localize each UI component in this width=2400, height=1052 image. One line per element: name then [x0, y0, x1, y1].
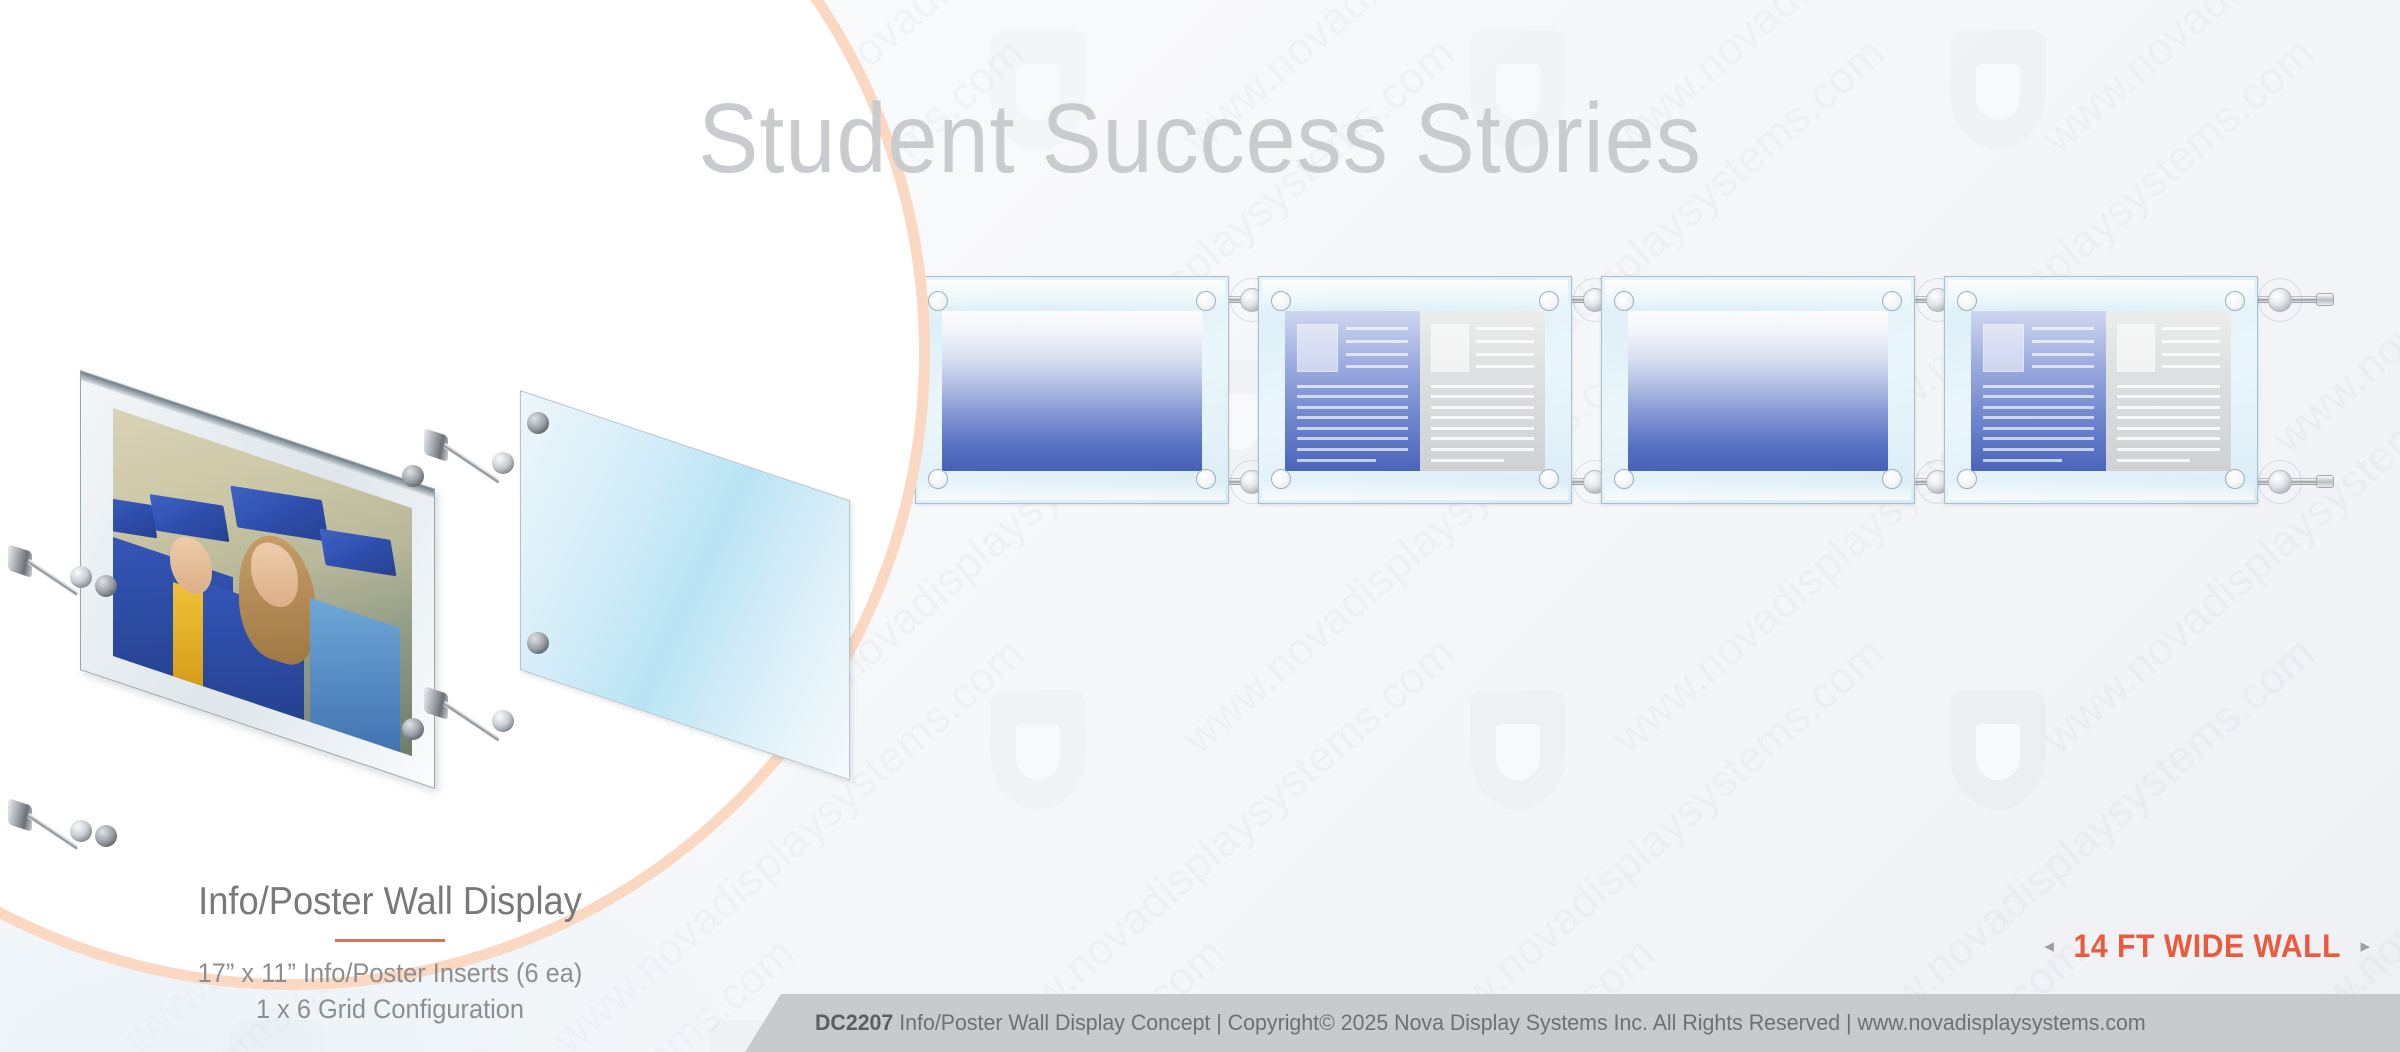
- panel-grommet: [1271, 291, 1291, 311]
- insert-text-line: [1476, 365, 1533, 368]
- display-panel-6: [1944, 276, 2258, 504]
- insert-text-line: [1431, 427, 1533, 430]
- insert-text-line: [1431, 437, 1533, 440]
- panel-grommet: [1957, 291, 1977, 311]
- insert-text-line: [2162, 327, 2219, 330]
- wall-width-label: 14 FT WIDE WALL: [2073, 928, 2340, 965]
- insert-text-line: [1983, 448, 2094, 451]
- watermark-text: www.novadisplaysystems.com: [974, 628, 1465, 1052]
- insert-text-line: [2032, 365, 2094, 368]
- panel-grommet: [1196, 469, 1216, 489]
- watermark-logo-icon: [990, 690, 1086, 810]
- rear-panel-mount-bottom-standoff-head: [492, 710, 514, 732]
- panel-grommet: [1882, 291, 1902, 311]
- insert-text-line: [1983, 385, 2094, 388]
- poster-insert-gradient: [1628, 311, 1888, 471]
- rod-coupling-standoff: [2268, 288, 2292, 312]
- panel-grommet: [1882, 469, 1902, 489]
- insert-text-line: [1297, 406, 1408, 409]
- footer-doc-code: DC2207: [815, 1010, 893, 1035]
- caption-line-1: 17” x 11” Info/Poster Inserts (6 ea): [23, 956, 756, 992]
- display-panel-3: [915, 276, 1229, 504]
- insert-column-left: [1971, 311, 2106, 471]
- insert-text-line: [1346, 340, 1408, 343]
- insert-text-line: [2117, 459, 2189, 462]
- insert-text-line: [2117, 395, 2219, 398]
- insert-text-line: [2117, 416, 2219, 419]
- display-panel-4: [1258, 276, 1572, 504]
- insert-text-line: [1431, 406, 1533, 409]
- rod-end-cap: [2316, 475, 2334, 488]
- insert-text-line: [1983, 427, 2094, 430]
- poster-insert-document: [1285, 311, 1545, 471]
- panel-grommet: [1614, 469, 1634, 489]
- footer-copyright: Info/Poster Wall Display Concept | Copyr…: [893, 1010, 2145, 1035]
- insert-text-line: [2117, 448, 2219, 451]
- insert-text-line: [1431, 395, 1533, 398]
- rod-coupling-standoff: [2268, 470, 2292, 494]
- front-panel-mount-bottom-standoff-head: [70, 820, 92, 842]
- right-arrow-icon: ▸: [2360, 937, 2370, 956]
- insert-text-line: [2162, 365, 2219, 368]
- insert-text-line: [2032, 340, 2094, 343]
- insert-text-line: [1346, 353, 1408, 356]
- insert-column-right: [2106, 311, 2231, 471]
- poster-insert-gradient: [942, 311, 1202, 471]
- footer-text: DC2207 Info/Poster Wall Display Concept …: [815, 1010, 2146, 1036]
- panel-grommet: [1539, 291, 1559, 311]
- left-arrow-icon: ◂: [2044, 937, 2054, 956]
- page-title: Student Success Stories: [96, 82, 2304, 195]
- watermark-text: www.novadisplaysystems.com: [1404, 628, 1895, 1052]
- caption-rule: [335, 939, 445, 942]
- rear-panel-grommet: [527, 412, 549, 434]
- front-panel-grommet: [402, 465, 424, 487]
- photo-shape: [149, 494, 229, 542]
- concept-sheet: www.novadisplaysystems.comwww.novadispla…: [0, 0, 2400, 1052]
- insert-text-line: [1983, 395, 2094, 398]
- photo-shape: [310, 598, 400, 756]
- insert-column-left: [1285, 311, 1420, 471]
- watermark-logo-icon: [1950, 690, 2046, 810]
- front-panel-grommet: [95, 575, 117, 597]
- insert-text-line: [1346, 327, 1408, 330]
- insert-text-line: [1431, 459, 1503, 462]
- rear-panel-grommet: [527, 632, 549, 654]
- panel-bottom-sheen: [1605, 482, 1911, 500]
- panel-bottom-sheen: [1262, 482, 1568, 500]
- display-panel-5: [1601, 276, 1915, 504]
- watermark-text: www.novadisplaysystems.com: [2264, 628, 2400, 1052]
- caption-line-2: 1 x 6 Grid Configuration: [23, 992, 756, 1028]
- panel-grommet: [1539, 469, 1559, 489]
- panel-grommet: [1614, 291, 1634, 311]
- insert-text-line: [2117, 437, 2219, 440]
- poster-insert-document: [1971, 311, 2231, 471]
- insert-text-line: [1297, 427, 1408, 430]
- panel-grommet: [2225, 291, 2245, 311]
- front-panel-grommet: [402, 718, 424, 740]
- wall-width-badge: ◂ 14 FT WIDE WALL ▸: [2044, 928, 2370, 965]
- exploded-assembly: [0, 370, 720, 870]
- insert-text-line: [1476, 340, 1533, 343]
- panel-top-sheen: [1262, 280, 1568, 306]
- panel-grommet: [928, 469, 948, 489]
- insert-text-line: [1346, 365, 1408, 368]
- photo-shape: [320, 528, 397, 575]
- insert-text-line: [1431, 448, 1533, 451]
- watermark-text: www.novadisplaysystems.com: [1834, 628, 2325, 1052]
- panel-grommet: [1957, 469, 1977, 489]
- graduation-photo: [113, 408, 412, 756]
- rod-end-cap: [2316, 293, 2334, 306]
- insert-text-line: [1297, 459, 1375, 462]
- footer-bar: DC2207 Info/Poster Wall Display Concept …: [745, 994, 2400, 1052]
- panel-grommet: [928, 291, 948, 311]
- insert-image-placeholder: [1297, 324, 1338, 372]
- panel-top-sheen: [1948, 280, 2254, 306]
- panel-bottom-sheen: [919, 482, 1225, 500]
- insert-text-line: [1476, 327, 1533, 330]
- insert-text-line: [2117, 427, 2219, 430]
- insert-text-line: [1297, 385, 1408, 388]
- front-panel-grommet: [95, 825, 117, 847]
- panel-grommet: [2225, 469, 2245, 489]
- rear-panel-mount-top-standoff-head: [492, 452, 514, 474]
- insert-text-line: [1476, 353, 1533, 356]
- panel-top-sheen: [1605, 280, 1911, 306]
- insert-text-line: [2032, 327, 2094, 330]
- insert-text-line: [2117, 385, 2219, 388]
- insert-image-placeholder: [2117, 324, 2154, 372]
- insert-text-line: [2117, 406, 2219, 409]
- insert-column-right: [1420, 311, 1545, 471]
- insert-text-line: [1983, 416, 2094, 419]
- insert-text-line: [2032, 353, 2094, 356]
- panel-grommet: [1271, 469, 1291, 489]
- insert-text-line: [2162, 353, 2219, 356]
- insert-text-line: [1297, 448, 1408, 451]
- insert-text-line: [1983, 437, 2094, 440]
- insert-text-line: [1297, 395, 1408, 398]
- insert-text-line: [1297, 416, 1408, 419]
- caption-title: Info/Poster Wall Display: [27, 880, 752, 924]
- panel-grommet: [1196, 291, 1216, 311]
- caption-block: Info/Poster Wall Display 17” x 11” Info/…: [0, 880, 780, 1028]
- front-panel-mount-top-standoff-head: [70, 566, 92, 588]
- insert-image-placeholder: [1431, 324, 1468, 372]
- insert-text-line: [1297, 437, 1408, 440]
- insert-text-line: [1983, 406, 2094, 409]
- insert-text-line: [1431, 385, 1533, 388]
- insert-text-line: [1431, 416, 1533, 419]
- insert-text-line: [2162, 340, 2219, 343]
- insert-text-line: [1983, 459, 2061, 462]
- watermark-logo-icon: [1470, 690, 1566, 810]
- photo-shape: [230, 485, 328, 541]
- insert-image-placeholder: [1983, 324, 2024, 372]
- panel-bottom-sheen: [1948, 482, 2254, 500]
- front-acrylic-panel-with-photo: [80, 370, 435, 789]
- panel-top-sheen: [919, 280, 1225, 306]
